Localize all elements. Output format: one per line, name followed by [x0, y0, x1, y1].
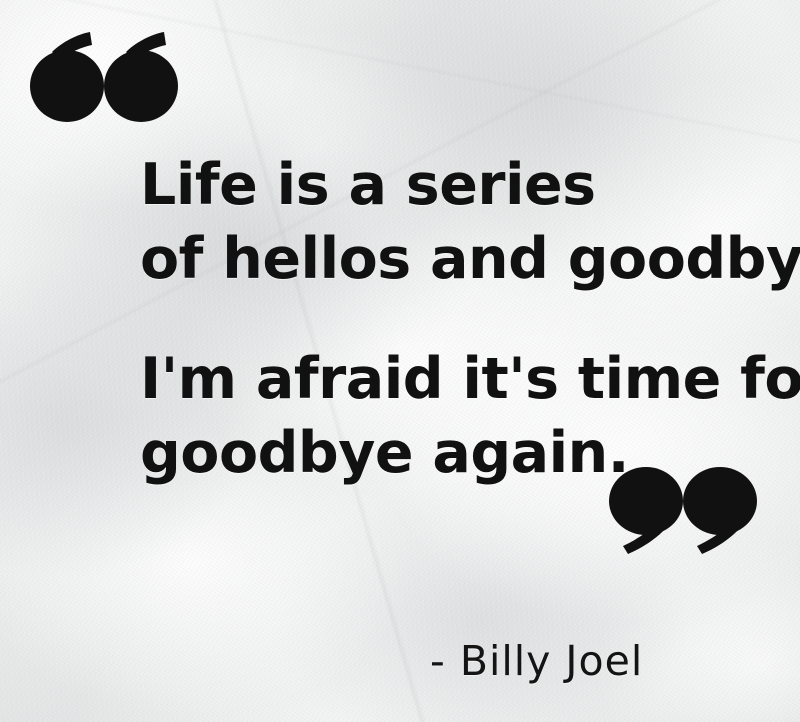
quote-line: of hellos and goodbyes. [140, 222, 790, 296]
attribution-text: - Billy Joel [430, 637, 643, 685]
quote-image: Life is a series of hellos and goodbyes.… [0, 0, 800, 722]
paragraph-spacer [140, 296, 790, 342]
quote-line: Life is a series [140, 148, 790, 222]
quote-text: Life is a series of hellos and goodbyes.… [140, 148, 790, 490]
open-quote-icon [30, 28, 178, 124]
quote-line: I'm afraid it's time for [140, 342, 790, 416]
close-quote-icon [608, 466, 758, 558]
